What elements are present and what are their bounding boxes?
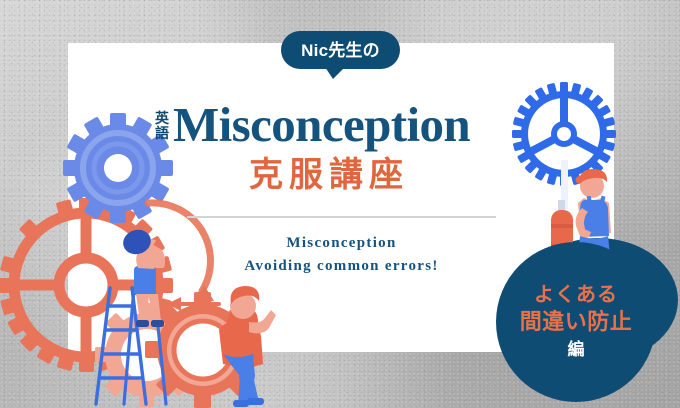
japanese-title: 克服講座 [249, 158, 409, 192]
person-pushing-gear-icon [205, 282, 285, 408]
status-badge: よくある 間違い防止 編 [496, 242, 656, 402]
subtitle-line1: Misconception [189, 232, 494, 255]
badge-line2: 間違い防止 [520, 308, 633, 336]
page-title: Misconception [173, 100, 470, 149]
banner-stage: Nic先生の 英 語 Misconception 克服講座 Misconcept… [0, 0, 680, 408]
kicker-line2: 語 [155, 126, 169, 140]
subtitle-line2: Avoiding common errors! [189, 255, 494, 278]
divider [187, 216, 496, 218]
kicker-line1: 英 [155, 111, 169, 125]
badge-line3: 編 [568, 339, 585, 361]
speech-bubble: Nic先生の [281, 31, 400, 69]
speech-bubble-text: Nic先生の [301, 42, 380, 59]
person-on-ladder-icon [108, 222, 178, 332]
subtitle-block: Misconception Avoiding common errors! [189, 232, 494, 277]
title-kicker: 英 語 [155, 111, 169, 140]
badge-line1: よくある [534, 283, 618, 308]
title-row: 英 語 Misconception [155, 100, 470, 149]
